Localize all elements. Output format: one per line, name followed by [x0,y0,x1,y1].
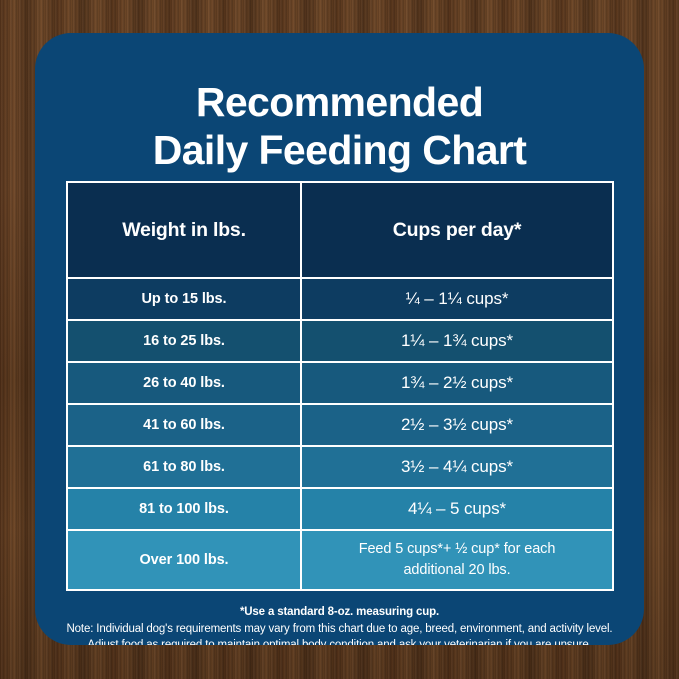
table-header-row: Weight in lbs. Cups per day* [68,183,612,277]
cell-cups: 3½ – 4¼ cups* [302,447,612,487]
cell-cups-line-2: additional 20 lbs. [403,562,510,578]
table-row: 16 to 25 lbs. 1¼ – 1¾ cups* [68,319,612,361]
cell-cups: 1¾ – 2½ cups* [302,363,612,403]
cell-cups: 4¼ – 5 cups* [302,489,612,529]
feeding-table: Weight in lbs. Cups per day* Up to 15 lb… [66,181,614,591]
column-header-weight: Weight in lbs. [68,183,302,277]
table-row: 81 to 100 lbs. 4¼ – 5 cups* [68,487,612,529]
cell-weight: 41 to 60 lbs. [68,405,302,445]
footnote-adjust: Adjust food as required to maintain opti… [55,637,624,645]
footnotes: *Use a standard 8-oz. measuring cup. Not… [55,606,624,645]
cell-weight: 16 to 25 lbs. [68,321,302,361]
cell-cups: 1¼ – 1¾ cups* [302,321,612,361]
cell-cups: 2½ – 3½ cups* [302,405,612,445]
cell-weight: Over 100 lbs. [68,531,302,589]
table-row: Over 100 lbs. Feed 5 cups*+ ½ cup* for e… [68,529,612,589]
cell-weight: 61 to 80 lbs. [68,447,302,487]
table-row: 41 to 60 lbs. 2½ – 3½ cups* [68,403,612,445]
table-row: Up to 15 lbs. ¼ – 1¼ cups* [68,277,612,319]
cell-weight: 26 to 40 lbs. [68,363,302,403]
feeding-chart-card: Recommended Daily Feeding Chart Weight i… [35,33,644,645]
page-title: Recommended Daily Feeding Chart [35,78,644,175]
cell-weight: 81 to 100 lbs. [68,489,302,529]
page-title-line-2: Daily Feeding Chart [59,126,620,174]
cell-weight: Up to 15 lbs. [68,279,302,319]
table-row: 61 to 80 lbs. 3½ – 4¼ cups* [68,445,612,487]
cell-cups: ¼ – 1¼ cups* [302,279,612,319]
column-header-cups: Cups per day* [302,183,612,277]
cell-cups: Feed 5 cups*+ ½ cup* for each additional… [302,531,612,589]
cell-cups-line-1: Feed 5 cups*+ ½ cup* for each [359,541,556,557]
page-title-line-1: Recommended [59,78,620,126]
footnote-note: Note: Individual dog's requirements may … [55,621,624,637]
table-row: 26 to 40 lbs. 1¾ – 2½ cups* [68,361,612,403]
footnote-measuring-cup: *Use a standard 8-oz. measuring cup. [55,606,624,618]
